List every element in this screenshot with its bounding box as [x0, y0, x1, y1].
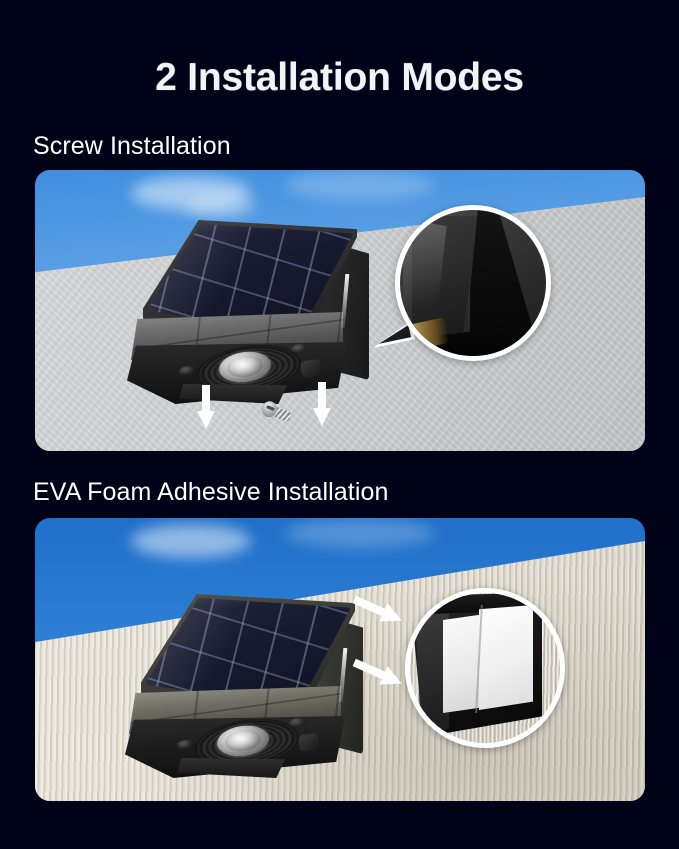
section-label-screw-installation: Screw Installation	[33, 132, 231, 161]
arrow-head	[313, 408, 331, 426]
screw-installation-photo	[35, 170, 645, 451]
eva-foam-detail-inset	[405, 588, 565, 748]
section-label-eva-foam-installation: EVA Foam Adhesive Installation	[33, 478, 389, 507]
cloud-shape	[285, 170, 435, 200]
screw-detail-inset	[395, 205, 551, 361]
down-arrow-icon	[313, 382, 331, 426]
device-button	[298, 733, 320, 753]
arrow-shaft	[202, 385, 210, 413]
screw-scene	[35, 170, 645, 451]
solar-light-device	[103, 590, 359, 768]
arrow-shaft	[318, 382, 326, 410]
cloud-shape	[185, 196, 255, 218]
solar-light-device	[105, 216, 365, 396]
infographic-page: 2 Installation Modes Screw Installation	[0, 0, 679, 849]
arrow-head	[197, 411, 215, 429]
device-button	[300, 359, 322, 379]
down-arrow-icon	[197, 385, 215, 429]
page-title: 2 Installation Modes	[0, 56, 679, 100]
eva-foam-pad	[479, 605, 533, 710]
